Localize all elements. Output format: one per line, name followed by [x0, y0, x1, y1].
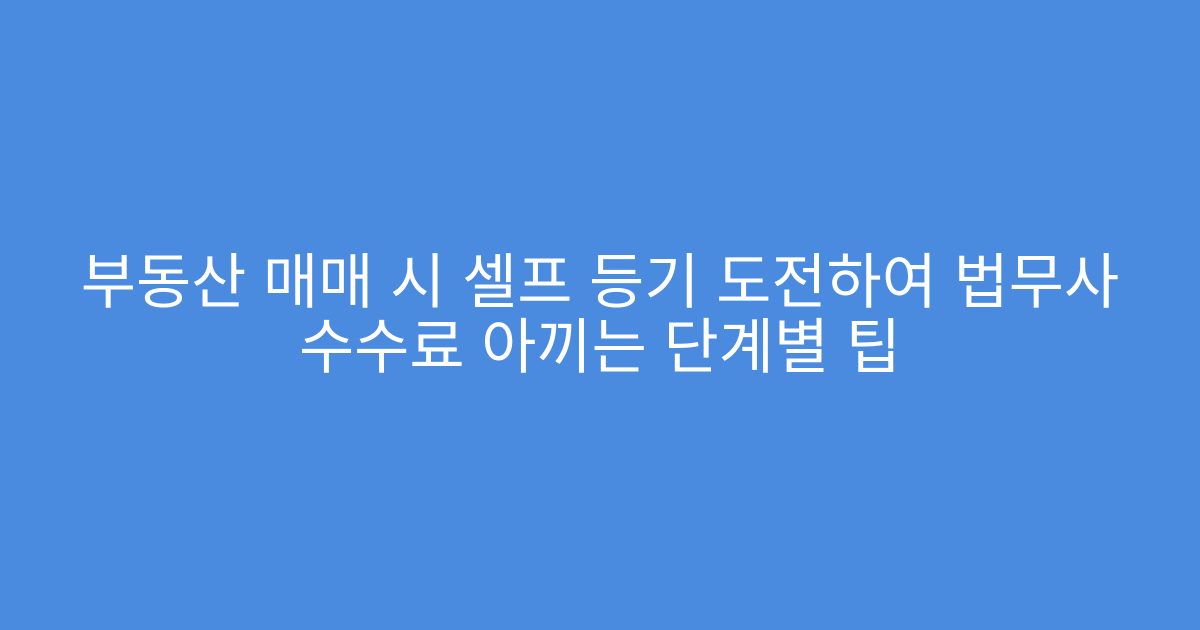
title-block: 부동산 매매 시 셀프 등기 도전하여 법무사 수수료 아끼는 단계별 팁	[55, 250, 1145, 380]
social-share-card: 부동산 매매 시 셀프 등기 도전하여 법무사 수수료 아끼는 단계별 팁	[0, 0, 1200, 630]
page-title: 부동산 매매 시 셀프 등기 도전하여 법무사 수수료 아끼는 단계별 팁	[55, 250, 1145, 380]
